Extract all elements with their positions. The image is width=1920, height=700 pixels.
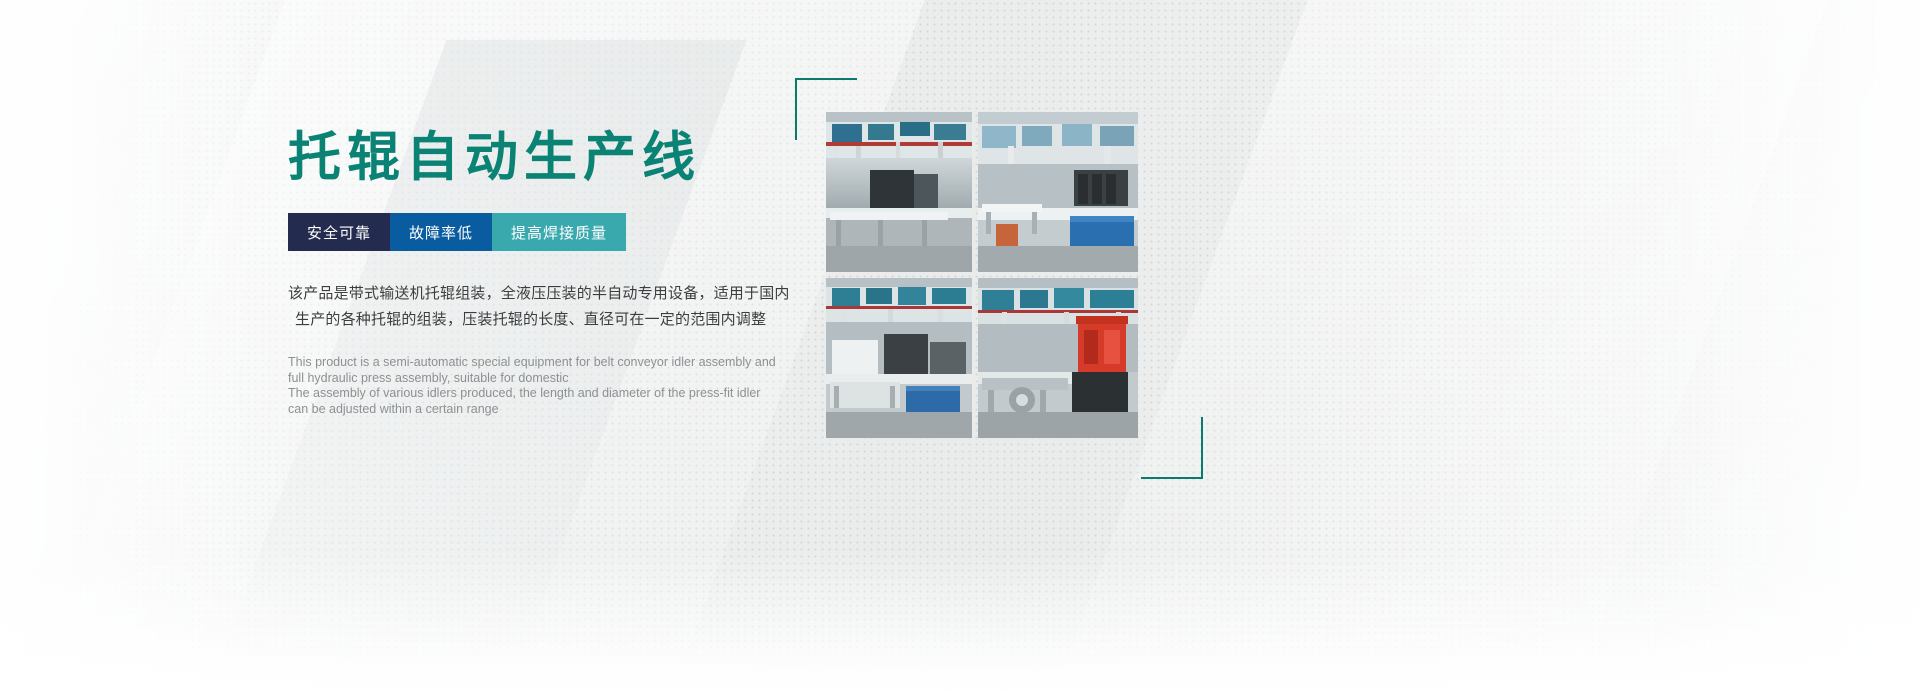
photo-grid (826, 112, 1138, 438)
chinese-description-line-2: 生产的各种托辊的组装，压装托辊的长度、直径可在一定的范围内调整 (288, 307, 758, 333)
photo-assembly-machine-image (826, 278, 972, 438)
photo-red-press-machine-image (978, 278, 1138, 438)
photo-red-press-machine[interactable] (978, 278, 1138, 438)
product-banner: 托辊自动生产线 安全可靠 故障率低 提高焊接质量 该产品是带式输送机托辊组装，全… (0, 0, 1920, 700)
english-description: This product is a semi-automatic special… (288, 355, 758, 417)
english-description-line-3: The assembly of various idlers produced,… (288, 386, 758, 402)
chinese-description: 该产品是带式输送机托辊组装，全液压压装的半自动专用设备，适用于国内 生产的各种托… (288, 281, 758, 333)
photo-workshop-benches-image (978, 112, 1138, 272)
feature-tag-improved-weld-quality[interactable]: 提高焊接质量 (492, 213, 626, 251)
english-description-line-1: This product is a semi-automatic special… (288, 355, 758, 371)
banner-text-column: 托辊自动生产线 安全可靠 故障率低 提高焊接质量 该产品是带式输送机托辊组装，全… (288, 128, 758, 417)
bottom-fade-overlay (0, 550, 1920, 700)
page-title: 托辊自动生产线 (288, 128, 758, 187)
photo-assembly-machine[interactable] (826, 278, 972, 438)
english-description-line-2: full hydraulic press assembly, suitable … (288, 371, 758, 387)
english-description-line-4: can be adjusted within a certain range (288, 402, 758, 418)
corner-bracket-bottom-right (1141, 417, 1203, 479)
photo-workshop-benches[interactable] (978, 112, 1138, 272)
chinese-description-line-1: 该产品是带式输送机托辊组装，全液压压装的半自动专用设备，适用于国内 (288, 281, 758, 307)
feature-tag-low-failure-rate[interactable]: 故障率低 (390, 213, 492, 251)
photo-gallery (795, 78, 1195, 473)
photo-conveyor-line-image (826, 112, 972, 272)
photo-conveyor-line[interactable] (826, 112, 972, 272)
feature-tag-safe-reliable[interactable]: 安全可靠 (288, 213, 390, 251)
feature-tag-row: 安全可靠 故障率低 提高焊接质量 (288, 213, 758, 251)
